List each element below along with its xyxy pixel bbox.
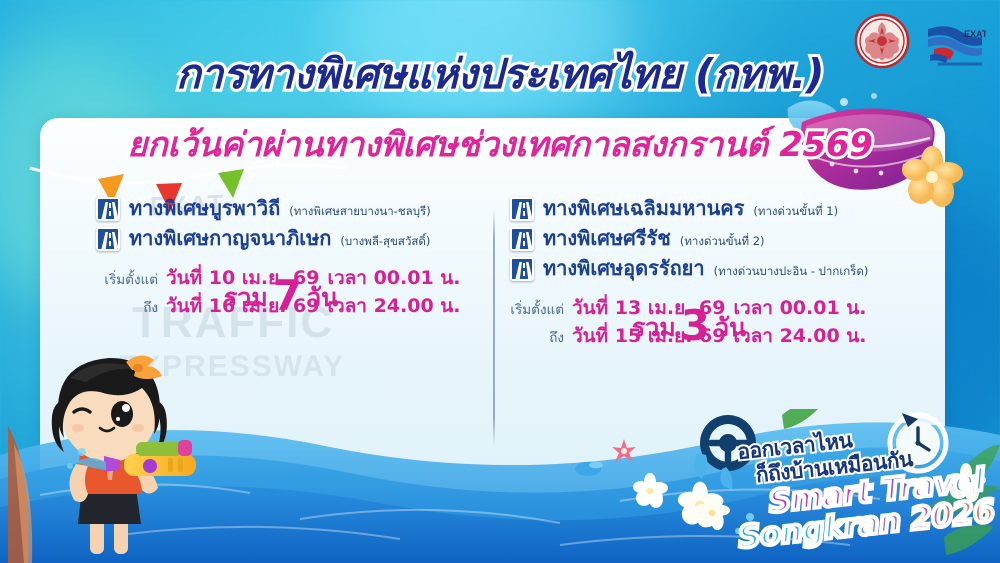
road-name: ทางพิเศษอุดรรัถยา bbox=[543, 256, 705, 281]
total-number: 3 bbox=[676, 301, 715, 350]
road-item: ทางพิเศษศรีรัช (ทางด่วนขั้นที่ 2) bbox=[510, 226, 940, 251]
smart-travel-badge: ออกเวลาไหน ก็ถึงบ้านเหมือนกัน Smart Trav… bbox=[694, 409, 994, 559]
total-unit: วัน bbox=[715, 313, 746, 342]
open-eye bbox=[111, 401, 133, 427]
road-name: ทางพิเศษกาญจนาภิเษก bbox=[129, 226, 331, 251]
expressway-icon bbox=[96, 227, 120, 251]
bunting-flag-green bbox=[218, 169, 244, 198]
road-name: ทางพิเศษศรีรัช bbox=[543, 226, 671, 251]
expressway-icon bbox=[510, 197, 534, 221]
road-name: ทางพิเศษเฉลิมมหานคร bbox=[543, 196, 744, 221]
road-sublabel: (ทางด่วนขั้นที่ 2) bbox=[680, 233, 765, 251]
exat-logo: EXAT bbox=[924, 15, 986, 67]
column-left: ทางพิเศษบูรพาวิถี (ทางพิเศษสายบางนา-ชลบุ… bbox=[96, 196, 486, 320]
total-unit: วัน bbox=[307, 283, 338, 312]
total-days-left: รวม7วัน bbox=[86, 271, 476, 320]
expressway-icon bbox=[510, 227, 534, 251]
road-sublabel: (ทางด่วนขั้นที่ 1) bbox=[753, 203, 838, 221]
songkran-girl-mascot bbox=[8, 348, 243, 563]
road-sublabel: (บางพลี-สุขสวัสดิ์) bbox=[340, 233, 430, 251]
column-right: ทางพิเศษเฉลิมมหานคร (ทางด่วนขั้นที่ 1) ท… bbox=[510, 196, 940, 350]
road-item: ทางพิเศษกาญจนาภิเษก (บางพลี-สุขสวัสดิ์) bbox=[96, 226, 486, 251]
exat-logo-text: EXAT bbox=[964, 29, 986, 39]
total-number: 7 bbox=[268, 271, 307, 320]
total-word: รวม bbox=[632, 313, 676, 342]
thai-government-seal-logo bbox=[854, 13, 910, 69]
road-item: ทางพิเศษอุดรรัถยา (ทางด่วนบางปะอิน - ปาก… bbox=[510, 256, 940, 281]
road-item: ทางพิเศษบูรพาวิถี (ทางพิเศษสายบางนา-ชลบุ… bbox=[96, 196, 486, 221]
expressway-icon bbox=[510, 257, 534, 281]
total-word: รวม bbox=[224, 283, 268, 312]
total-days-right: รวม3วัน bbox=[474, 301, 904, 350]
road-name: ทางพิเศษบูรพาวิถี bbox=[129, 196, 280, 221]
road-sublabel: (ทางด่วนบางปะอิน - ปากเกร็ด) bbox=[714, 263, 869, 281]
road-sublabel: (ทางพิเศษสายบางนา-ชลบุรี) bbox=[289, 203, 430, 221]
road-item: ทางพิเศษเฉลิมมหานคร (ทางด่วนขั้นที่ 1) bbox=[510, 196, 940, 221]
infographic-canvas: EXAT TRAFFIC EXPRESSWAY bbox=[0, 0, 1000, 563]
logo-row: EXAT bbox=[854, 13, 986, 69]
expressway-icon bbox=[96, 197, 120, 221]
